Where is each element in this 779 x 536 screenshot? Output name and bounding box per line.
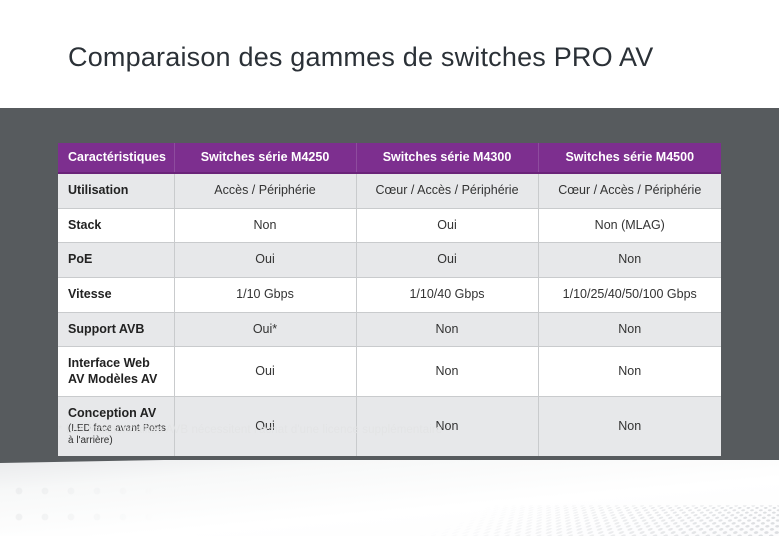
- row-feature-title: Conception AV: [68, 406, 156, 420]
- cell-m4500: Non: [538, 243, 721, 278]
- table-row: PoE Oui Oui Non: [58, 243, 721, 278]
- table-header-row: Caractéristiques Switches série M4250 Sw…: [58, 143, 721, 173]
- cell-m4300: Non: [356, 312, 538, 347]
- cell-m4500: Cœur / Accès / Périphérie: [538, 173, 721, 208]
- table-row: Vitesse 1/10 Gbps 1/10/40 Gbps 1/10/25/4…: [58, 277, 721, 312]
- hex-pattern-right-icon: [369, 506, 779, 536]
- row-feature-label: Support AVB: [58, 312, 174, 347]
- cell-m4250: Oui: [174, 243, 356, 278]
- row-feature-label: Utilisation: [58, 173, 174, 208]
- table-body: Utilisation Accès / Périphérie Cœur / Ac…: [58, 173, 721, 456]
- comparison-table: Caractéristiques Switches série M4250 Sw…: [58, 143, 721, 456]
- row-feature-label: Interface Web AV Modèles AV: [58, 347, 174, 397]
- table-row: Stack Non Oui Non (MLAG): [58, 208, 721, 243]
- cell-m4500: Non: [538, 397, 721, 457]
- title-band: Comparaison des gammes de switches PRO A…: [0, 0, 779, 108]
- cell-m4250: 1/10 Gbps: [174, 277, 356, 312]
- band-slant-edge: [0, 460, 779, 463]
- table-footnote: * Les fonctionnalités AVB nécessitent l'…: [58, 424, 442, 436]
- cell-m4250: Oui: [174, 347, 356, 397]
- column-header-m4500: Switches série M4500: [538, 143, 721, 173]
- table-header: Caractéristiques Switches série M4250 Sw…: [58, 143, 721, 173]
- cell-m4500: 1/10/25/40/50/100 Gbps: [538, 277, 721, 312]
- comparison-table-container: Caractéristiques Switches série M4250 Sw…: [58, 143, 721, 456]
- cell-m4300: Non: [356, 347, 538, 397]
- hex-pattern-left-icon: [0, 478, 210, 536]
- row-feature-label: Stack: [58, 208, 174, 243]
- cell-m4300: 1/10/40 Gbps: [356, 277, 538, 312]
- table-row: Utilisation Accès / Périphérie Cœur / Ac…: [58, 173, 721, 208]
- column-header-m4250: Switches série M4250: [174, 143, 356, 173]
- table-row: Support AVB Oui* Non Non: [58, 312, 721, 347]
- cell-m4500: Non (MLAG): [538, 208, 721, 243]
- cell-m4250: Oui*: [174, 312, 356, 347]
- bottom-decorative-band: [0, 460, 779, 536]
- cell-m4300: Oui: [356, 208, 538, 243]
- cell-m4300: Cœur / Accès / Périphérie: [356, 173, 538, 208]
- row-feature-label: PoE: [58, 243, 174, 278]
- cell-m4500: Non: [538, 347, 721, 397]
- cell-m4500: Non: [538, 312, 721, 347]
- column-header-features: Caractéristiques: [58, 143, 174, 173]
- slide-root: Comparaison des gammes de switches PRO A…: [0, 0, 779, 536]
- page-title: Comparaison des gammes de switches PRO A…: [68, 42, 653, 73]
- table-row: Interface Web AV Modèles AV Oui Non Non: [58, 347, 721, 397]
- cell-m4300: Oui: [356, 243, 538, 278]
- cell-m4250: Accès / Périphérie: [174, 173, 356, 208]
- cell-m4250: Non: [174, 208, 356, 243]
- column-header-m4300: Switches série M4300: [356, 143, 538, 173]
- row-feature-label: Vitesse: [58, 277, 174, 312]
